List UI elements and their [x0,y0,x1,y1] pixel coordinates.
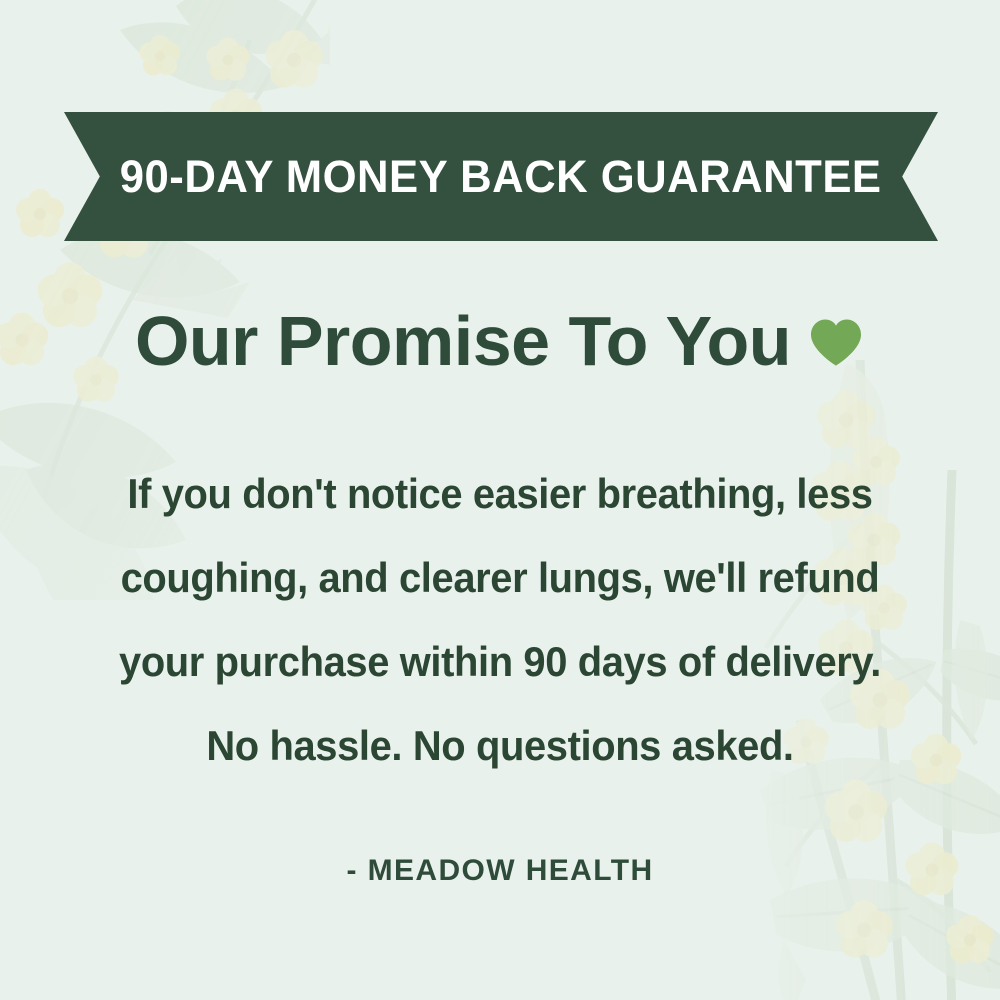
promise-card: 90-DAY MONEY BACK GUARANTEE Our Promise … [0,0,1000,1000]
promise-body: If you don't notice easier breathing, le… [60,452,940,788]
body-line: coughing, and clearer lungs, we'll refun… [82,536,918,620]
body-line: your purchase within 90 days of delivery… [82,620,918,704]
headline-row: Our Promise To You [0,296,1000,386]
body-line: No hassle. No questions asked. [82,704,918,788]
attribution-signature: - MEADOW HEALTH [0,856,1000,886]
green-heart-icon [807,310,865,372]
page-title: Our Promise To You [135,306,791,376]
guarantee-banner: 90-DAY MONEY BACK GUARANTEE [64,112,938,241]
guarantee-banner-label: 90-DAY MONEY BACK GUARANTEE [120,154,882,199]
body-line: If you don't notice easier breathing, le… [82,452,918,536]
